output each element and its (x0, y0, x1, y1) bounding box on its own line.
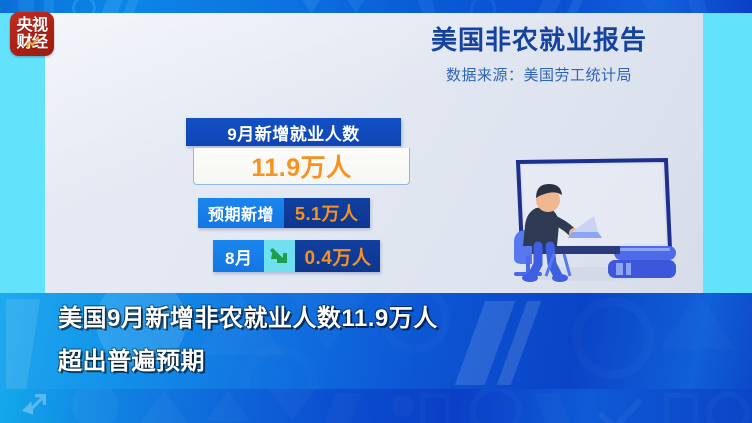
data-source-subtitle: 数据来源：美国劳工统计局 (405, 64, 673, 85)
banner-text-block: 美国9月新增非农就业人数11.9万人 超出普遍预期 (58, 307, 438, 374)
previous-month-row: 8月 0.4万人 (213, 240, 380, 272)
expected-value-chip: 5.1万人 (284, 198, 370, 228)
logo-line-1: 央视 (16, 18, 47, 34)
expected-value: 5.1万人 (295, 200, 359, 226)
expected-label-chip: 预期新增 (198, 198, 284, 228)
logo-line-2: 财经 (16, 35, 47, 51)
bottom-decorative-strip (0, 389, 752, 423)
kpi-value: 11.9万人 (251, 148, 351, 184)
banner-line-1: 美国9月新增非农就业人数11.9万人 (58, 307, 438, 331)
previous-month-label-chip: 8月 (213, 240, 264, 272)
kpi-value-box: 11.9万人 (193, 148, 410, 185)
previous-month-value: 0.4万人 (304, 243, 371, 270)
broadcast-graphic: 央视 财经 美国非农就业报告 数据来源：美国劳工统计局 9月新增就业人数 11.… (0, 0, 752, 423)
page-title: 美国非农就业报告 (405, 26, 673, 55)
top-decorative-strip (0, 0, 752, 13)
previous-month-value-chip: 0.4万人 (295, 240, 380, 272)
person-working-at-desk-illustration (498, 156, 683, 284)
right-cyan-band (703, 13, 752, 293)
kpi-header-bar: 9月新增就业人数 (186, 118, 401, 146)
kpi-header-label: 9月新增就业人数 (227, 120, 359, 145)
cctv-finance-logo: 央视 财经 (10, 12, 54, 56)
banner-line-2: 超出普遍预期 (58, 350, 438, 374)
arrow-down-right-icon (270, 246, 290, 266)
kpi-block: 9月新增就业人数 11.9万人 (186, 118, 401, 146)
previous-month-label: 8月 (225, 244, 252, 269)
expected-label: 预期新增 (208, 201, 274, 225)
expected-row: 预期新增 5.1万人 (198, 198, 370, 228)
trend-arrow-box (264, 240, 295, 272)
lower-third-banner: 美国9月新增非农就业人数11.9万人 超出普遍预期 (0, 293, 752, 389)
arrow-pattern-icon (22, 394, 46, 418)
headline-block: 美国非农就业报告 数据来源：美国劳工统计局 (405, 26, 673, 85)
